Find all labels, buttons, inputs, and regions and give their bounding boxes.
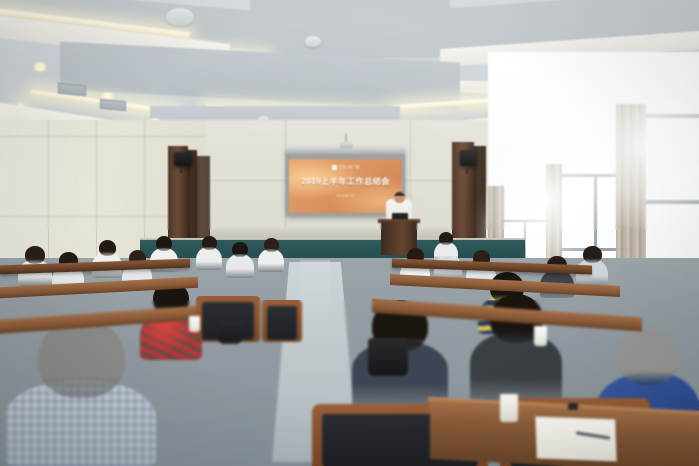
person-head — [232, 242, 248, 257]
person-head — [618, 330, 678, 385]
person-head — [156, 236, 172, 251]
paper-cup-midground[interactable] — [534, 326, 547, 346]
audience-member-center-2 — [226, 242, 254, 278]
person-head — [25, 246, 45, 264]
person-head — [99, 240, 116, 256]
chair-back — [267, 306, 297, 340]
person-head — [202, 236, 217, 250]
audience-member-left-3 — [92, 240, 122, 278]
person-head — [583, 246, 602, 263]
person-torso — [226, 254, 254, 278]
audience-member-center-3 — [258, 238, 284, 272]
person-head — [264, 238, 279, 252]
paper-cup-foreground[interactable] — [500, 394, 518, 422]
bag-on-floor-left[interactable] — [218, 322, 242, 344]
small-device[interactable] — [568, 403, 578, 410]
audience-member-center-1 — [196, 236, 222, 270]
person-torso — [258, 249, 284, 272]
audience — [0, 0, 699, 466]
person-torso — [196, 247, 222, 270]
bag-on-floor[interactable] — [368, 338, 408, 376]
audience-member-foreground-checkered — [6, 318, 156, 466]
person-head — [439, 232, 453, 245]
paper-cup-left[interactable] — [189, 316, 200, 332]
open-notebook[interactable] — [535, 417, 616, 462]
conference-room-photograph: 青岛人民广播 2019上半年工作总结会 2019年7月 — [0, 0, 699, 466]
